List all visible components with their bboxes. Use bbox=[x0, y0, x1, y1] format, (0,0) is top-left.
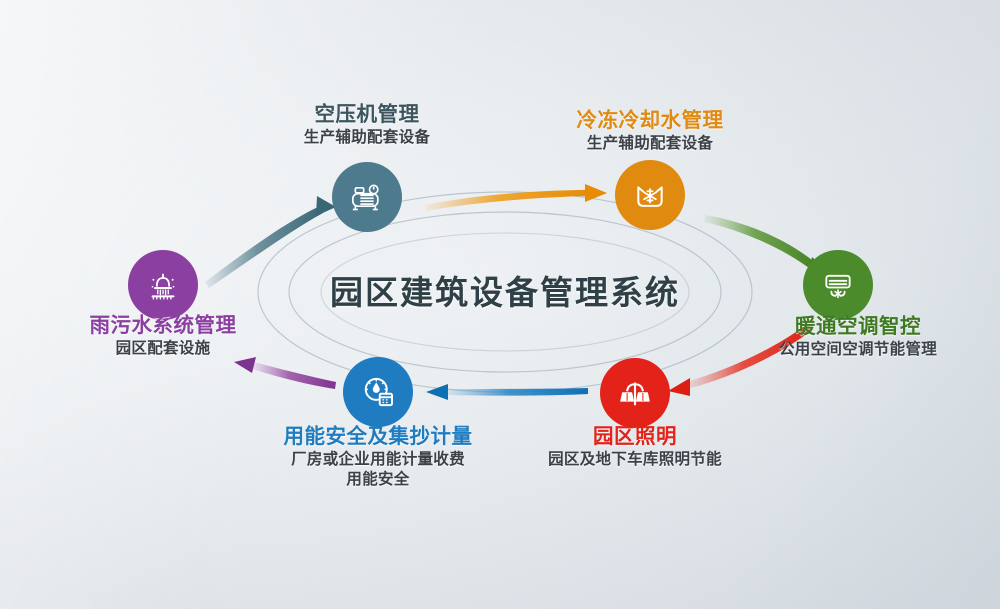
sub-air-compressor-1: 生产辅助配套设备 bbox=[304, 128, 430, 148]
label-stormwater-sewage: 雨污水系统管理 园区配套设施 bbox=[90, 313, 237, 359]
diagram-canvas: 园区建筑设备管理系统 空压机管理 生产辅助配套设备 bbox=[0, 0, 1000, 609]
label-air-compressor: 空压机管理 生产辅助配套设备 bbox=[304, 102, 430, 148]
sub-park-lighting-1: 园区及地下车库照明节能 bbox=[548, 450, 722, 470]
heading-energy-safety-metering: 用能安全及集抄计量 bbox=[284, 424, 473, 450]
sub-chilled-cooling-water-1: 生产辅助配套设备 bbox=[577, 134, 724, 154]
heading-air-compressor: 空压机管理 bbox=[304, 102, 430, 128]
heading-stormwater-sewage: 雨污水系统管理 bbox=[90, 313, 237, 339]
air-compressor-icon[interactable] bbox=[332, 162, 402, 232]
arrow-stormwater-to-compressor bbox=[205, 196, 336, 288]
label-park-lighting: 园区照明 园区及地下车库照明节能 bbox=[548, 424, 722, 470]
sub-energy-safety-metering-2: 用能安全 bbox=[284, 470, 473, 490]
heading-park-lighting: 园区照明 bbox=[548, 424, 722, 450]
arrow-compressor-to-water bbox=[425, 184, 607, 211]
label-hvac-smart-control: 暖通空调智控 公用空间空调节能管理 bbox=[779, 314, 937, 360]
page-title: 园区建筑设备管理系统 bbox=[330, 266, 680, 314]
air-conditioner-icon[interactable] bbox=[803, 250, 873, 320]
sub-hvac-smart-control-1: 公用空间空调节能管理 bbox=[779, 340, 937, 360]
meter-calendar-icon[interactable] bbox=[343, 357, 413, 427]
cooling-basin-snowflake-icon[interactable] bbox=[615, 160, 685, 230]
sub-energy-safety-metering-1: 厂房或企业用能计量收费 bbox=[284, 450, 473, 470]
sub-stormwater-sewage-1: 园区配套设施 bbox=[90, 339, 237, 359]
heading-chilled-cooling-water: 冷冻冷却水管理 bbox=[577, 108, 724, 134]
label-chilled-cooling-water: 冷冻冷却水管理 生产辅助配套设备 bbox=[577, 108, 724, 154]
heading-hvac-smart-control: 暖通空调智控 bbox=[779, 314, 937, 340]
arrow-lighting-to-energy bbox=[426, 384, 588, 400]
label-energy-safety-metering: 用能安全及集抄计量 厂房或企业用能计量收费 用能安全 bbox=[284, 424, 473, 490]
arrow-energy-to-stormwater bbox=[234, 357, 336, 389]
street-lamp-icon[interactable] bbox=[600, 358, 670, 428]
rain-drain-icon[interactable] bbox=[128, 250, 198, 320]
